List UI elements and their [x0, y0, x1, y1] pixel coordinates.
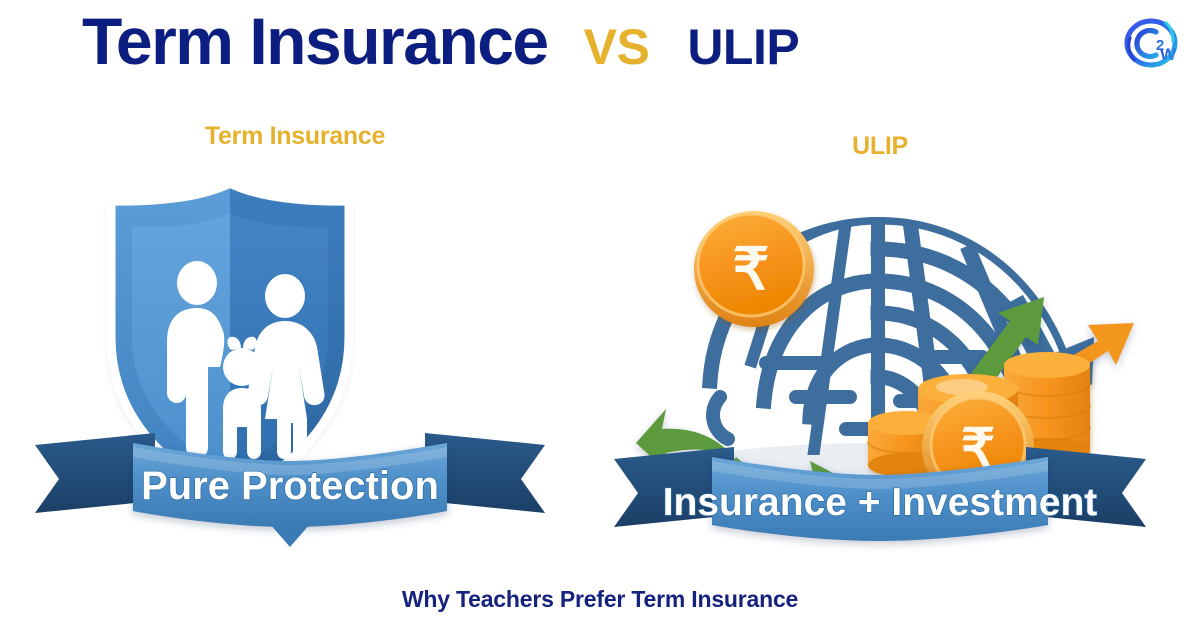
title-vs-separator: VS — [584, 22, 650, 72]
header: Term Insurance VS ULIP — [0, 0, 1200, 100]
maze-coins-illustration: ₹ — [600, 165, 1160, 565]
shield-family-illustration: Pure Protection Pure Protection — [15, 155, 575, 555]
svg-text:₹: ₹ — [733, 237, 770, 302]
c2w-logo-icon[interactable]: 2 W C2W — [1118, 10, 1182, 74]
rupee-coin-large: ₹ — [694, 211, 814, 327]
ribbon-label-left: Pure Protection — [575, 155, 576, 156]
ribbon-text-pure-protection: Pure Protection — [141, 464, 439, 508]
title-term-insurance: Term Insurance — [82, 8, 548, 74]
svg-text:W: W — [1160, 45, 1177, 64]
panel-label-ulip: ULIP — [600, 132, 1160, 161]
poster-canvas: Term Insurance VS ULIP — [0, 0, 1200, 628]
logo-text: C2W — [1182, 10, 1183, 11]
page-title: Term Insurance VS ULIP — [82, 8, 799, 74]
panel-label-term-insurance: Term Insurance — [15, 122, 575, 151]
ribbon-text-insurance-investment: Insurance + Investment — [663, 481, 1098, 524]
panel-ulip: ULIP — [600, 118, 1160, 573]
footer-caption: Why Teachers Prefer Term Insurance — [0, 586, 1200, 613]
title-ulip: ULIP — [687, 22, 799, 72]
ribbon-label-right: Insurance + Investment — [1160, 165, 1161, 166]
panel-term-insurance: Term Insurance — [15, 118, 575, 573]
